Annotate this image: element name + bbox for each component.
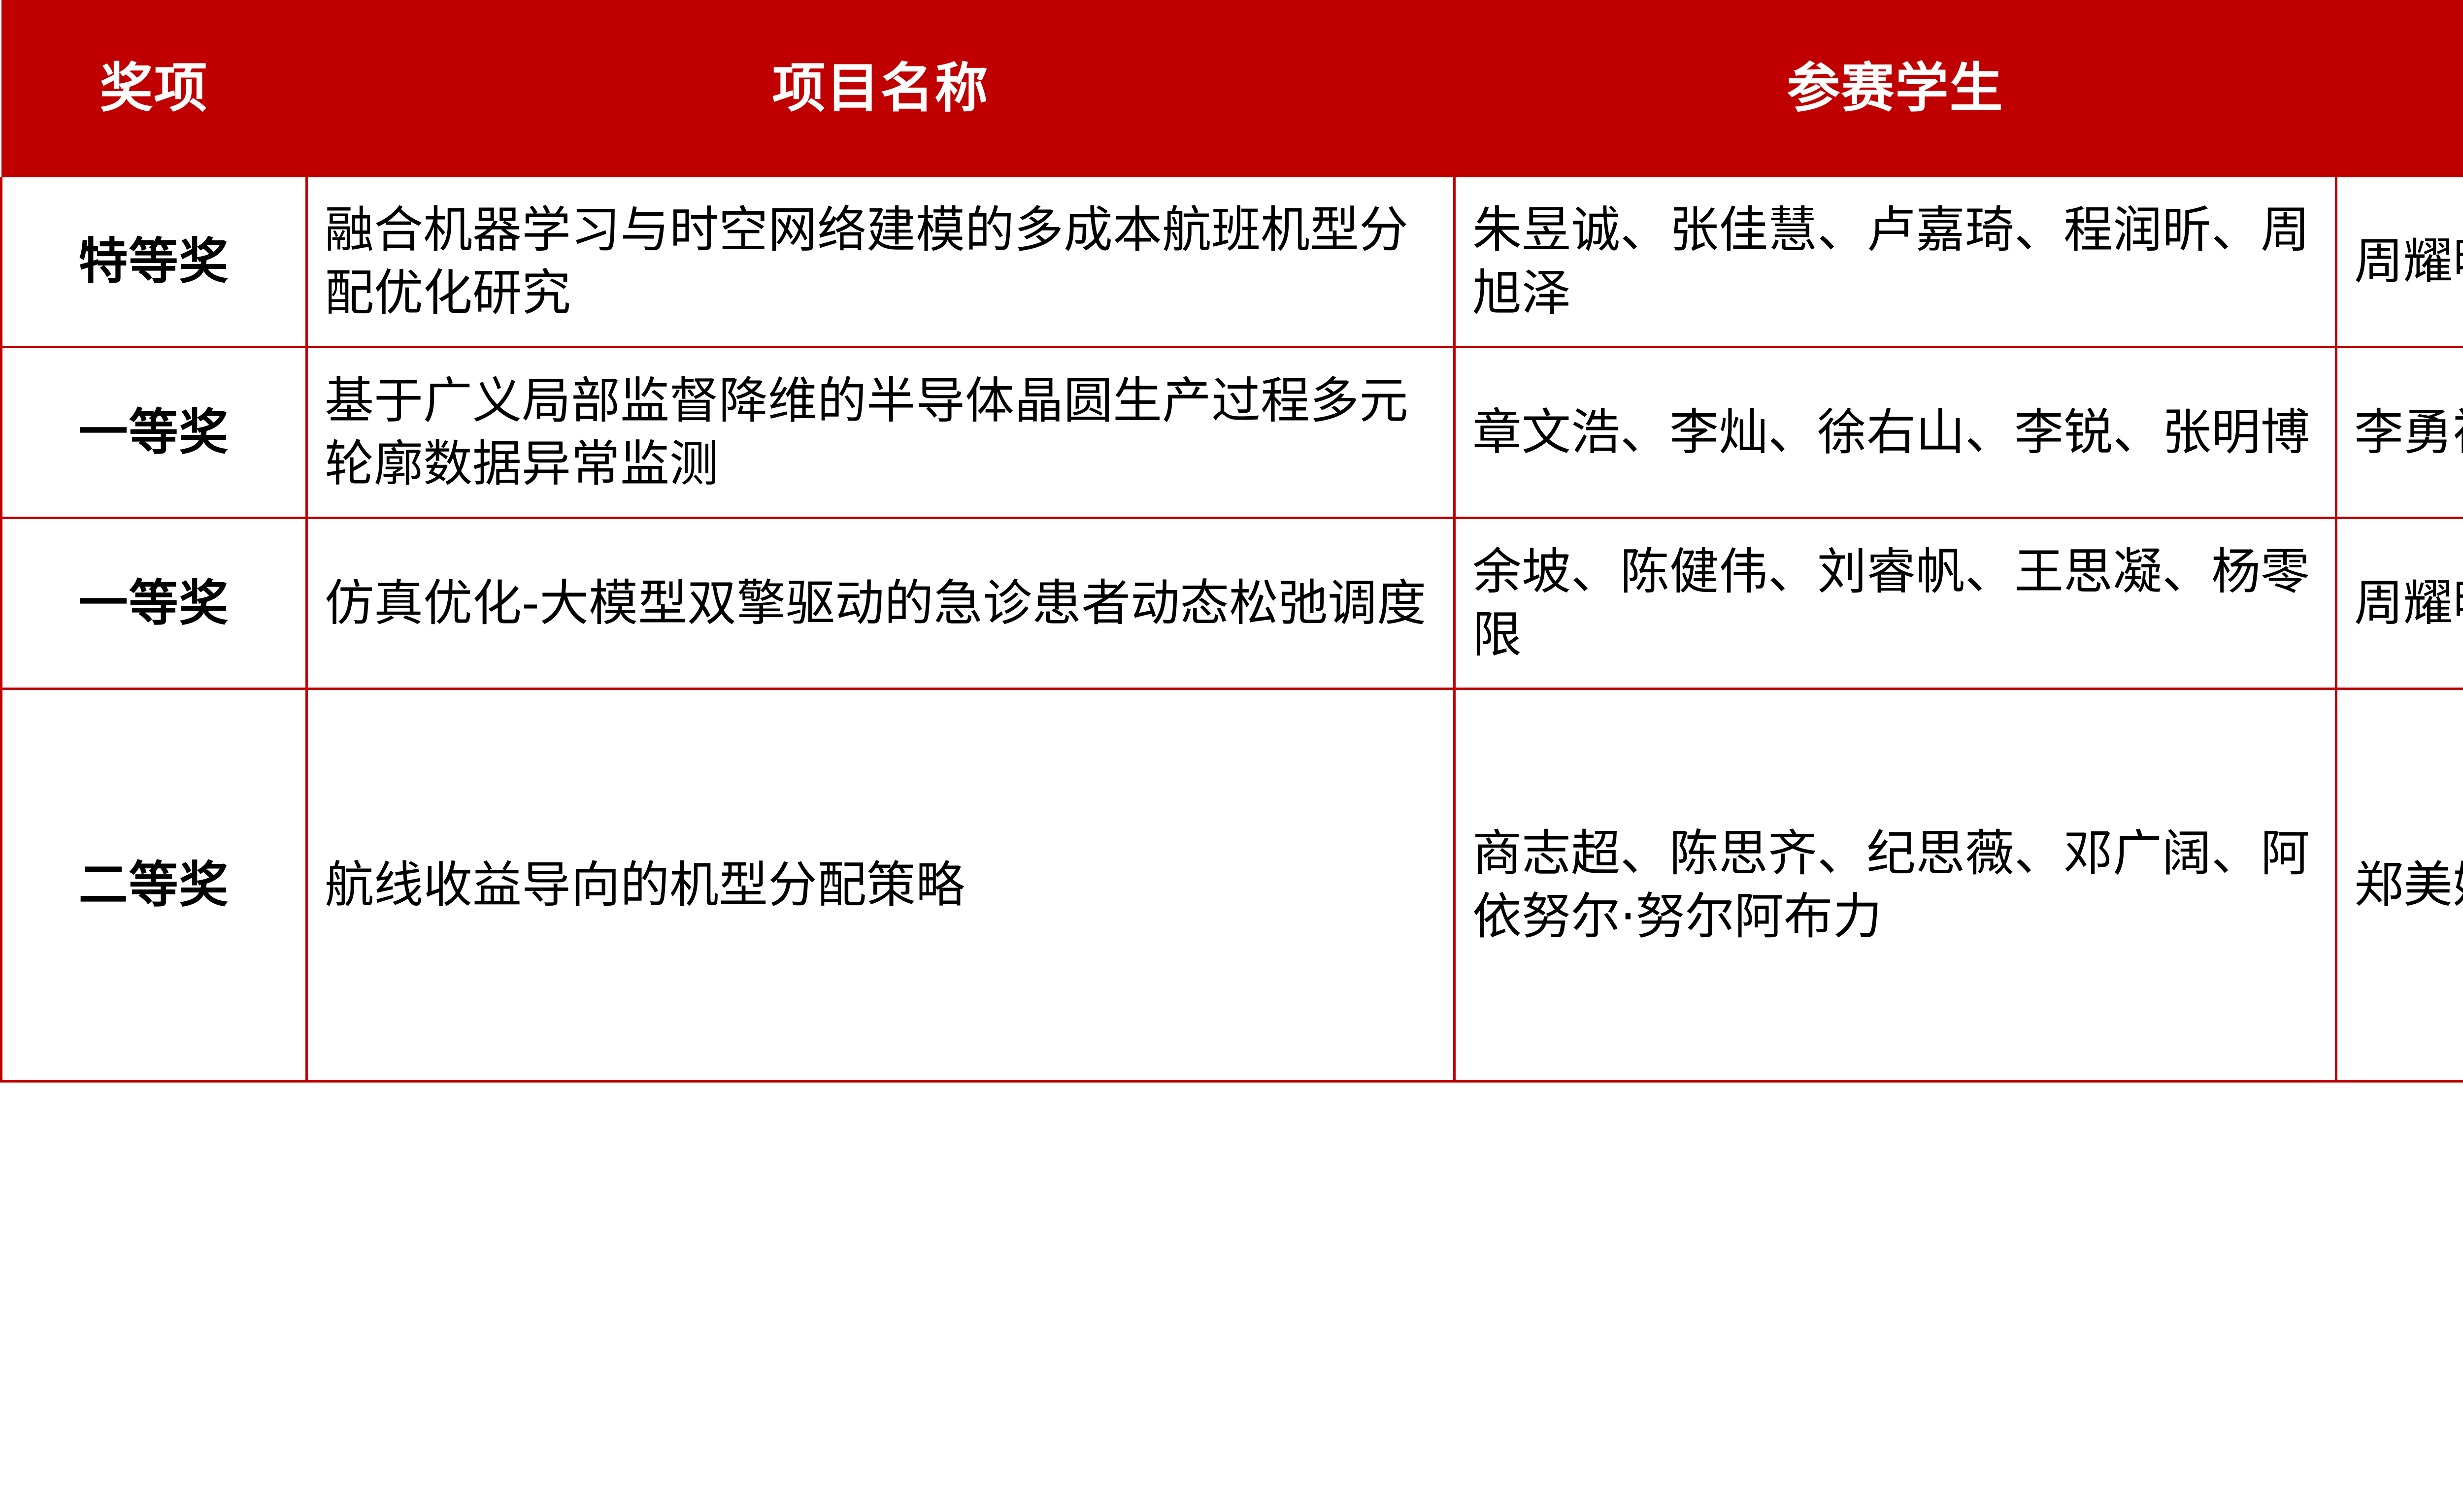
table-row: 一等奖 基于广义局部监督降维的半导体晶圆生产过程多元轮廓数据异常监测 章文浩、李… xyxy=(1,347,2463,518)
cell-teacher: 周耀明、夏唐斌 xyxy=(2336,177,2463,347)
table-body: 特等奖 融合机器学习与时空网络建模的多成本航班机型分配优化研究 朱昱诚、张佳慧、… xyxy=(1,177,2463,1082)
cell-award: 特等奖 xyxy=(1,177,307,347)
table-header: 奖项 项目名称 参赛学生 指导教师 xyxy=(1,0,2463,177)
table-row: 一等奖 仿真优化-大模型双擎驱动的急诊患者动态松弛调度 余坡、陈健伟、刘睿帆、王… xyxy=(1,518,2463,689)
cell-award: 二等奖 xyxy=(1,689,307,1082)
column-header-award: 奖项 xyxy=(1,0,307,177)
header-row: 奖项 项目名称 参赛学生 指导教师 xyxy=(1,0,2463,177)
column-header-project: 项目名称 xyxy=(307,0,1455,177)
cell-award: 一等奖 xyxy=(1,518,307,689)
cell-teacher: 李勇祥、李艳婷 xyxy=(2336,347,2463,518)
column-header-student: 参赛学生 xyxy=(1455,0,2336,177)
column-header-teacher: 指导教师 xyxy=(2336,0,2463,177)
cell-teacher: 周耀明、夏唐斌 xyxy=(2336,518,2463,689)
cell-project: 航线收益导向的机型分配策略 xyxy=(307,689,1455,1082)
cell-project: 基于广义局部监督降维的半导体晶圆生产过程多元轮廓数据异常监测 xyxy=(307,347,1455,518)
cell-student: 余坡、陈健伟、刘睿帆、王思凝、杨零限 xyxy=(1455,518,2336,689)
table-row: 二等奖 航线收益导向的机型分配策略 商志超、陈思齐、纪思薇、邓广阔、阿依努尔·努… xyxy=(1,689,2463,1082)
table-row: 特等奖 融合机器学习与时空网络建模的多成本航班机型分配优化研究 朱昱诚、张佳慧、… xyxy=(1,177,2463,347)
cell-student: 商志超、陈思齐、纪思薇、邓广阔、阿依努尔·努尔阿布力 xyxy=(1455,689,2336,1082)
cell-award: 一等奖 xyxy=(1,347,307,518)
cell-project: 融合机器学习与时空网络建模的多成本航班机型分配优化研究 xyxy=(307,177,1455,347)
cell-student: 章文浩、李灿、徐右山、李锐、张明博 xyxy=(1455,347,2336,518)
cell-project: 仿真优化-大模型双擎驱动的急诊患者动态松弛调度 xyxy=(307,518,1455,689)
award-results-table: 奖项 项目名称 参赛学生 指导教师 特等奖 融合机器学习与时空网络建模的多成本航… xyxy=(0,0,2463,1083)
cell-teacher: 郑美妹、王冬 xyxy=(2336,689,2463,1082)
cell-student: 朱昱诚、张佳慧、卢嘉琦、程润昕、周旭泽 xyxy=(1455,177,2336,347)
